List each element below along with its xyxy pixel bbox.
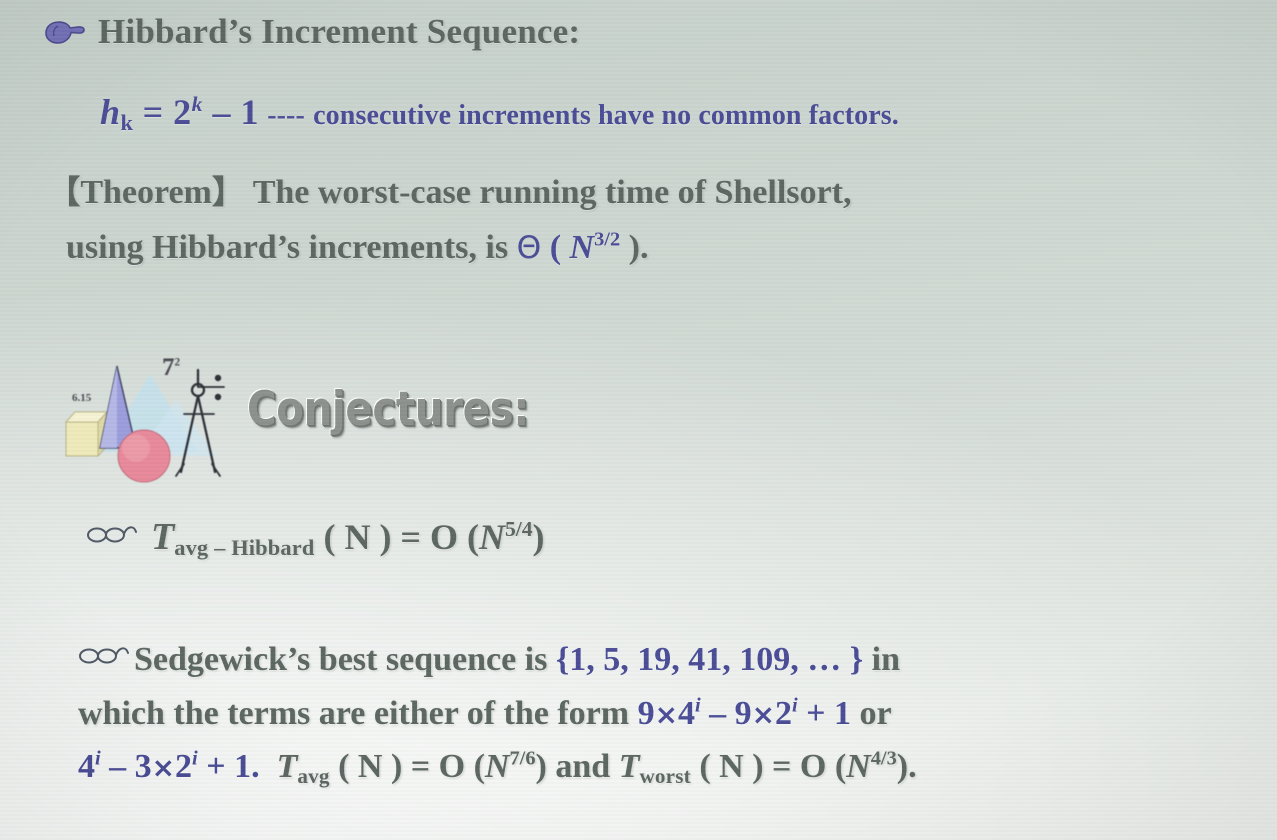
sedgewick-form-2: 4i – 3×2i + 1. (78, 748, 260, 785)
t-worst-N: N (846, 748, 871, 785)
t-avg-hibbard-close: ) (533, 517, 545, 557)
theorem-text-2: using Hibbard’s increments, is (66, 229, 508, 266)
t-avg-symbol: T (277, 748, 298, 785)
compass-dot-lower (215, 394, 221, 400)
theorem-line-1: 【Theorem】 The worst-case running time of… (48, 176, 851, 210)
compass-dot-upper (215, 375, 221, 381)
theorem-text-1: The worst-case running time of Shellsort… (253, 174, 852, 211)
sedgewick-text-1-post: in (872, 641, 900, 678)
formula-h: hk (100, 92, 133, 132)
formula-equals: = 2k – 1 (133, 92, 259, 132)
sedgewick-sequence: {1, 5, 19, 41, 109, … } (556, 641, 863, 678)
theorem-label: Theorem (80, 174, 212, 211)
theorem-paren-close: ). (629, 229, 649, 266)
theorem-line-2: using Hibbard’s increments, is Θ ( N3/2 … (66, 231, 648, 265)
formula-dashes: ---- (267, 100, 305, 131)
page-title: Hibbard’s Increment Sequence: (98, 14, 580, 49)
t-avg-hibbard-symbol: T (151, 516, 174, 558)
t-avg-hibbard-N: N (479, 517, 505, 557)
t-avg-close: ) (536, 748, 547, 785)
sedgewick-line-1: Sedgewick’s best sequence is {1, 5, 19, … (78, 643, 900, 677)
sedgewick-and: and (555, 748, 610, 785)
clipart-label-615: 6.15 (72, 392, 91, 404)
theorem-complexity: ( N3/2 (550, 229, 629, 266)
t-avg-exp: 7/6 (509, 748, 535, 770)
t-worst-arg: ( N ) = O ( (699, 748, 846, 785)
glasses-bullet-icon (86, 521, 142, 550)
t-worst-symbol: T (619, 748, 640, 785)
sedgewick-text-2: which the terms are either of the form (78, 695, 629, 732)
conjectures-heading: Conjectures: (247, 386, 529, 433)
sedgewick-form-1: 9×4i – 9×2i + 1 (638, 695, 851, 732)
sedgewick-line-2: which the terms are either of the form 9… (78, 697, 892, 731)
glasses-bullet-icon (78, 642, 134, 671)
pointing-hand-icon (40, 16, 86, 56)
theta-symbol: Θ (517, 230, 542, 266)
clipart-label-seven: 72 (162, 354, 180, 382)
sedgewick-line-3: 4i – 3×2i + 1. Tavg ( N ) = O (N7/6) and… (78, 750, 917, 787)
sedgewick-text-1: Sedgewick’s best sequence is (134, 641, 547, 678)
sphere-shape (118, 430, 170, 482)
t-worst-close: ). (897, 748, 917, 785)
clipart-svg (58, 352, 243, 487)
t-avg-hibbard-exp: 5/4 (505, 517, 533, 541)
slide-canvas: Hibbard’s Increment Sequence: hk = 2k – … (0, 0, 1277, 840)
cube-shape (66, 412, 107, 456)
formula-note: consecutive increments have no common fa… (313, 100, 899, 131)
t-avg-subscript: avg (297, 764, 329, 788)
t-worst-exp: 4/3 (871, 748, 897, 770)
geometry-shapes-clipart: 6.15 72 (58, 352, 243, 487)
t-avg-N: N (485, 748, 510, 785)
increment-formula-line: hk = 2k – 1 ---- consecutive increments … (100, 94, 899, 131)
theorem-bracket-open: 【 (48, 173, 80, 211)
t-avg-arg: ( N ) = O ( (338, 748, 485, 785)
conjecture-avg-hibbard: Tavg – Hibbard ( N ) = O (N5/4) (86, 518, 545, 560)
sedgewick-text-2-post: or (860, 695, 892, 732)
t-worst-subscript: worst (639, 764, 690, 788)
t-avg-hibbard-subscript: avg – Hibbard (174, 535, 314, 560)
theorem-bracket-close: 】 (212, 173, 244, 211)
t-avg-hibbard-arg: ( N ) = O ( (323, 517, 478, 557)
